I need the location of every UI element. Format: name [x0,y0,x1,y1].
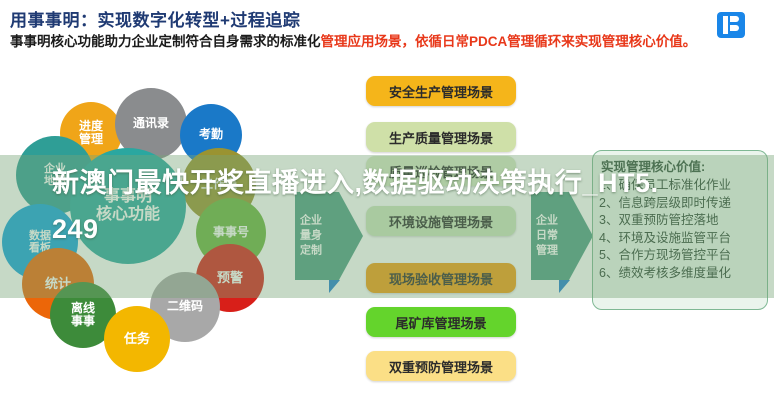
slide-canvas: 用事事明：实现数字化转型+过程追踪 事事明核心功能助力企业定制符合自身需求的标准… [0,0,774,400]
core-value-item-5: 5、合作方现场管控平台 [599,247,763,265]
bubble-label: 考勤 [199,128,223,141]
bubble-label: 二维码 [167,300,203,313]
core-value-item-2: 2、信息跨层级即时传递 [599,195,763,213]
scenario-box-1: 生产质量管理场景 [366,122,516,152]
core-value-panel: 实现管理核心价值: 1、确保员工标准化作业2、信息跨层级即时传递3、双重预防管控… [592,150,768,310]
arrow-label: 企业 量身 定制 [300,214,322,259]
bubble-label: 离线 事事 [71,302,95,329]
bubble-label: 事事明 核心功能 [96,188,160,224]
core-value-item-4: 4、环境及设施监管平台 [599,230,763,248]
bubble-label: 企业 地图 [44,163,66,188]
page-title: 用事事明：实现数字化转型+过程追踪 [10,6,300,31]
core-value-item-6: 6、绩效考核多维度量化 [599,265,763,283]
brand-logo-icon [717,12,745,38]
scenario-label: 双重预防管理场景 [389,357,493,376]
scenario-box-2: 质量巡检管理场景 [366,156,516,186]
scenario-label: 现场验收管理场景 [389,269,493,288]
scenario-label: 尾矿库管理场景 [395,313,486,332]
arrow-enterprise-custom: 企业 量身 定制 [295,192,363,280]
bubble-label: 任务 [124,332,150,347]
arrow-daily-management: 企业 日常 管理 [531,192,593,280]
bubble-12: 任务 [104,306,170,372]
scenario-box-5: 尾矿库管理场景 [366,307,516,337]
core-value-item-3: 3、双重预防管控落地 [599,212,763,230]
page-subtitle: 事事明核心功能助力企业定制符合自身需求的标准化管理应用场景，依循日常PDCA管理… [10,32,770,52]
core-value-item-1: 1、确保员工标准化作业 [599,177,763,195]
scenario-box-0: 安全生产管理场景 [366,76,516,106]
bubble-5: 事事明 核心功能 [70,148,186,264]
scenario-label: 环境设施管理场景 [389,212,493,231]
bubble-label: 进度 管理 [79,120,103,147]
scenario-box-3: 环境设施管理场景 [366,206,516,236]
bubble-label: 工作表 [201,178,237,191]
bubble-label: 事事号 [213,226,249,239]
core-function-bubble-cluster: 进度 管理通讯录考勤企业 地图工作表事事明 核心功能数据 看板事事号统计预警离线… [0,86,330,396]
scenario-box-6: 双重预防管理场景 [366,351,516,381]
scenario-label: 生产质量管理场景 [389,128,493,147]
scenario-label: 质量巡检管理场景 [389,162,493,181]
arrow-label: 企业 日常 管理 [536,214,558,259]
subtitle-red-text: 管理应用场景，依循日常PDCA管理循环来实现管理核心价值。 [321,34,697,49]
bubble-label: 通讯录 [133,117,169,130]
header: 用事事明：实现数字化转型+过程追踪 事事明核心功能助力企业定制符合自身需求的标准… [0,0,774,78]
scenario-box-4: 现场验收管理场景 [366,263,516,293]
core-value-items: 1、确保员工标准化作业2、信息跨层级即时传递3、双重预防管控落地4、环境及设施监… [599,177,763,282]
scenario-label: 安全生产管理场景 [389,82,493,101]
core-value-title: 实现管理核心价值: [601,156,763,175]
subtitle-black-text: 事事明核心功能助力企业定制符合自身需求的标准化 [10,34,321,49]
bubble-label: 预警 [217,271,243,286]
